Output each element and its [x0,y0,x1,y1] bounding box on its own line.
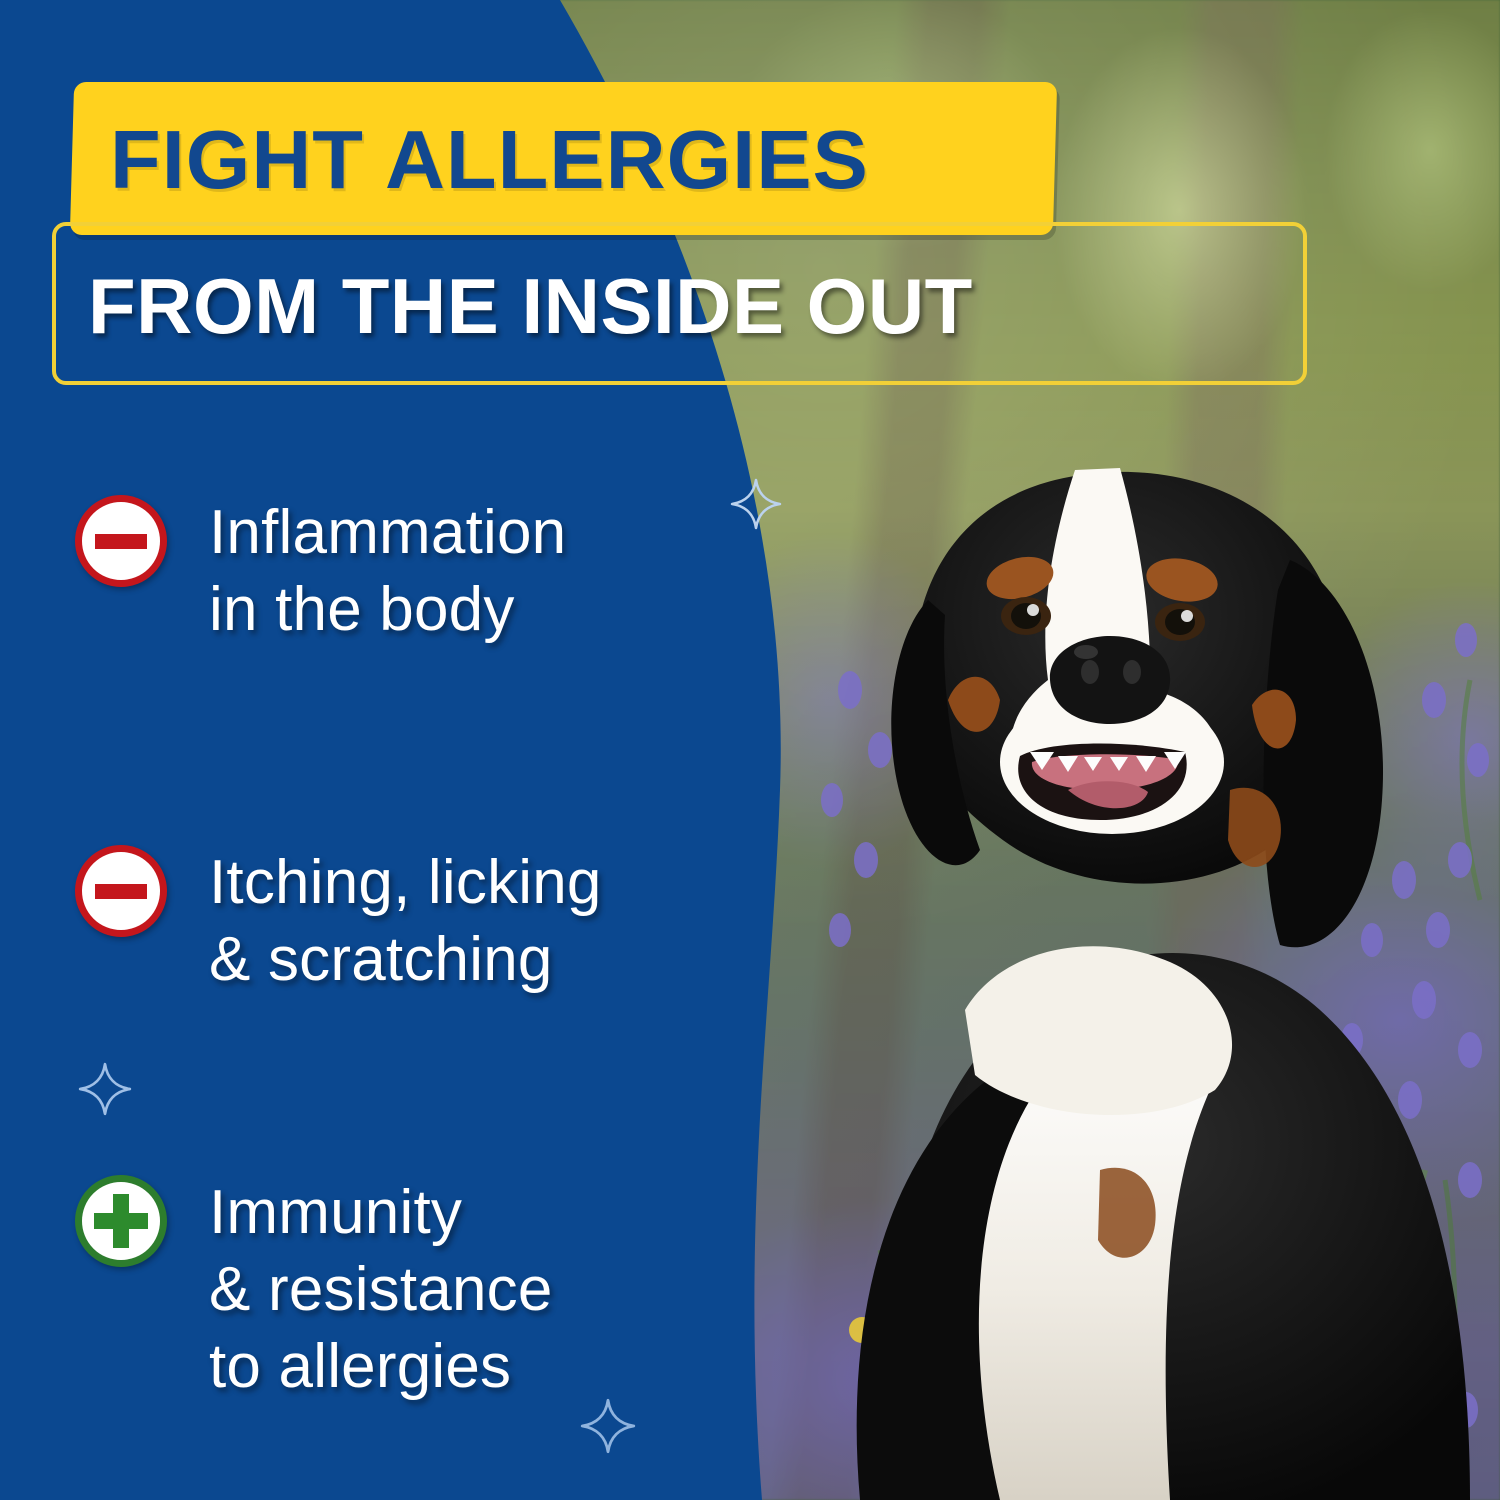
allergy-poster: FIGHT ALLERGIES FROM THE INSIDE OUT Infl… [0,0,1500,1500]
sparkle-icon [78,1062,132,1116]
benefit-item-inflammation: Inflammation in the body [75,495,566,649]
sparkle-icon [730,478,782,530]
plus-circle-icon [75,1175,167,1267]
headline-primary: FIGHT ALLERGIES [110,105,1030,215]
minus-circle-icon [75,845,167,937]
benefit-item-itching: Itching, licking & scratching [75,845,602,999]
headline-secondary: FROM THE INSIDE OUT [88,258,1288,354]
sparkle-icon [580,1398,636,1454]
plus-bar [94,1194,148,1248]
minus-circle-icon [75,495,167,587]
benefit-item-immunity: Immunity & resistance to allergies [75,1175,553,1406]
minus-bar [95,884,147,899]
benefit-label-itching: Itching, licking & scratching [209,845,602,999]
benefit-label-immunity: Immunity & resistance to allergies [209,1175,553,1406]
minus-bar [95,534,147,549]
benefit-label-inflammation: Inflammation in the body [209,495,566,649]
